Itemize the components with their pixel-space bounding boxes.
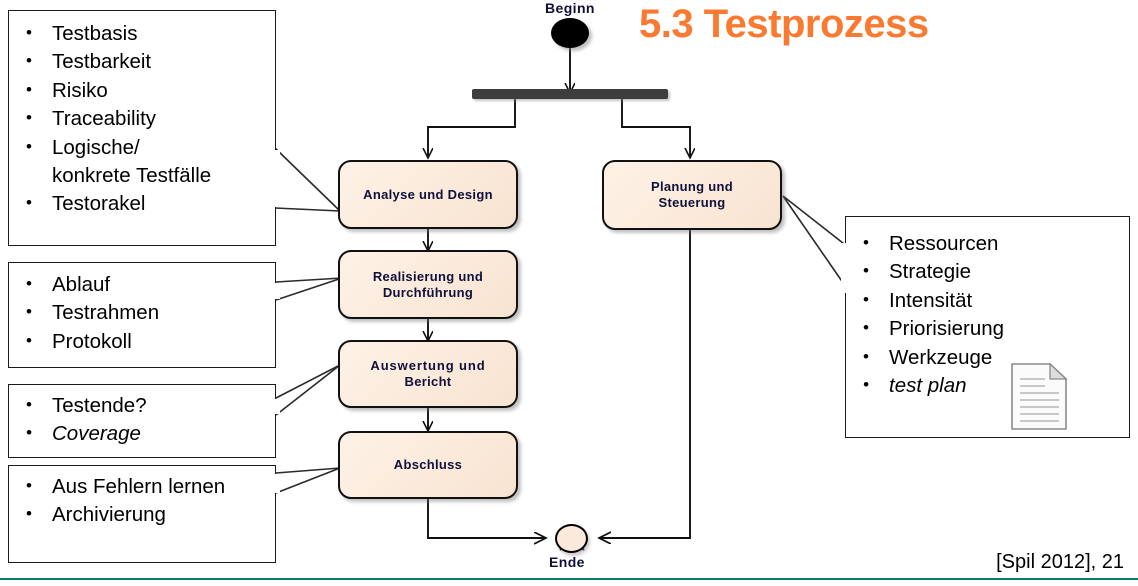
callout-auswertung: Testende? Coverage xyxy=(8,384,276,458)
list-item: Ablauf xyxy=(9,271,275,299)
list-item: Risiko xyxy=(9,77,275,105)
list-item: Priorisierung xyxy=(846,315,1129,343)
activity-label: Analyse und Design xyxy=(363,187,493,203)
activity-label: Realisierung und Durchführung xyxy=(373,269,483,301)
list-item: Traceability xyxy=(9,105,275,133)
fork-bar xyxy=(472,89,668,99)
callout-analyse-list: Testbasis Testbarkeit Risiko Traceabilit… xyxy=(9,20,275,219)
callout-realisierung-list: Ablauf Testrahmen Protokoll xyxy=(9,271,275,356)
list-item: test plan xyxy=(846,372,1129,400)
callout-analyse-tail-notch xyxy=(272,150,280,207)
list-item: Testbarkeit xyxy=(9,48,275,76)
callout-abschluss-tail-notch xyxy=(272,474,280,493)
end-node-label: Ende xyxy=(549,554,585,570)
start-node-label: Beginn xyxy=(545,0,595,16)
list-item: Werkzeuge xyxy=(846,344,1129,372)
list-item: Testende? xyxy=(9,392,275,420)
callout-abschluss-list: Aus Fehlern lernen Archivierung xyxy=(9,473,275,530)
callout-auswertung-list: Testende? Coverage xyxy=(9,392,275,449)
activity-abschluss[interactable]: Abschluss xyxy=(338,431,518,499)
list-item: Archivierung xyxy=(9,501,275,529)
list-item: Testbasis xyxy=(9,20,275,48)
callout-realisierung: Ablauf Testrahmen Protokoll xyxy=(8,262,276,368)
callout-auswertung-tail-notch xyxy=(272,399,280,414)
end-node xyxy=(555,524,588,553)
callout-planung-list: Ressourcen Strategie Intensität Priorisi… xyxy=(846,230,1129,400)
callout-planung: Ressourcen Strategie Intensität Priorisi… xyxy=(845,216,1130,438)
start-node xyxy=(551,18,589,48)
list-item: Aus Fehlern lernen xyxy=(9,473,275,501)
list-item: Coverage xyxy=(9,420,275,448)
activity-analyse-und-design[interactable]: Analyse und Design xyxy=(338,160,518,229)
slide-canvas: 5.3 Testprozess xyxy=(0,0,1138,586)
list-item: Ressourcen xyxy=(846,230,1129,258)
list-item: Testrahmen xyxy=(9,299,275,327)
activity-auswertung-und-bericht[interactable]: Auswertung und Bericht xyxy=(338,340,518,408)
callout-planung-tail-notch xyxy=(841,243,849,293)
list-item: Strategie xyxy=(846,258,1129,286)
activity-realisierung-und-durchfuehrung[interactable]: Realisierung und Durchführung xyxy=(338,250,518,319)
list-item: Protokoll xyxy=(9,328,275,356)
callout-realisierung-tail-notch xyxy=(272,283,280,299)
callout-abschluss: Aus Fehlern lernen Archivierung xyxy=(8,465,276,563)
list-item: konkrete Testfälle xyxy=(9,162,275,190)
activity-label: Planung und Steuerung xyxy=(651,179,733,211)
list-item: Logische/ xyxy=(9,134,275,162)
activity-label: Abschluss xyxy=(394,457,462,473)
list-item: Intensität xyxy=(846,287,1129,315)
document-icon xyxy=(1005,358,1073,441)
callout-analyse: Testbasis Testbarkeit Risiko Traceabilit… xyxy=(8,10,276,246)
activity-planung-und-steuerung[interactable]: Planung und Steuerung xyxy=(602,160,782,230)
list-item: Testorakel xyxy=(9,190,275,218)
activity-label: Auswertung und Bericht xyxy=(370,358,485,390)
